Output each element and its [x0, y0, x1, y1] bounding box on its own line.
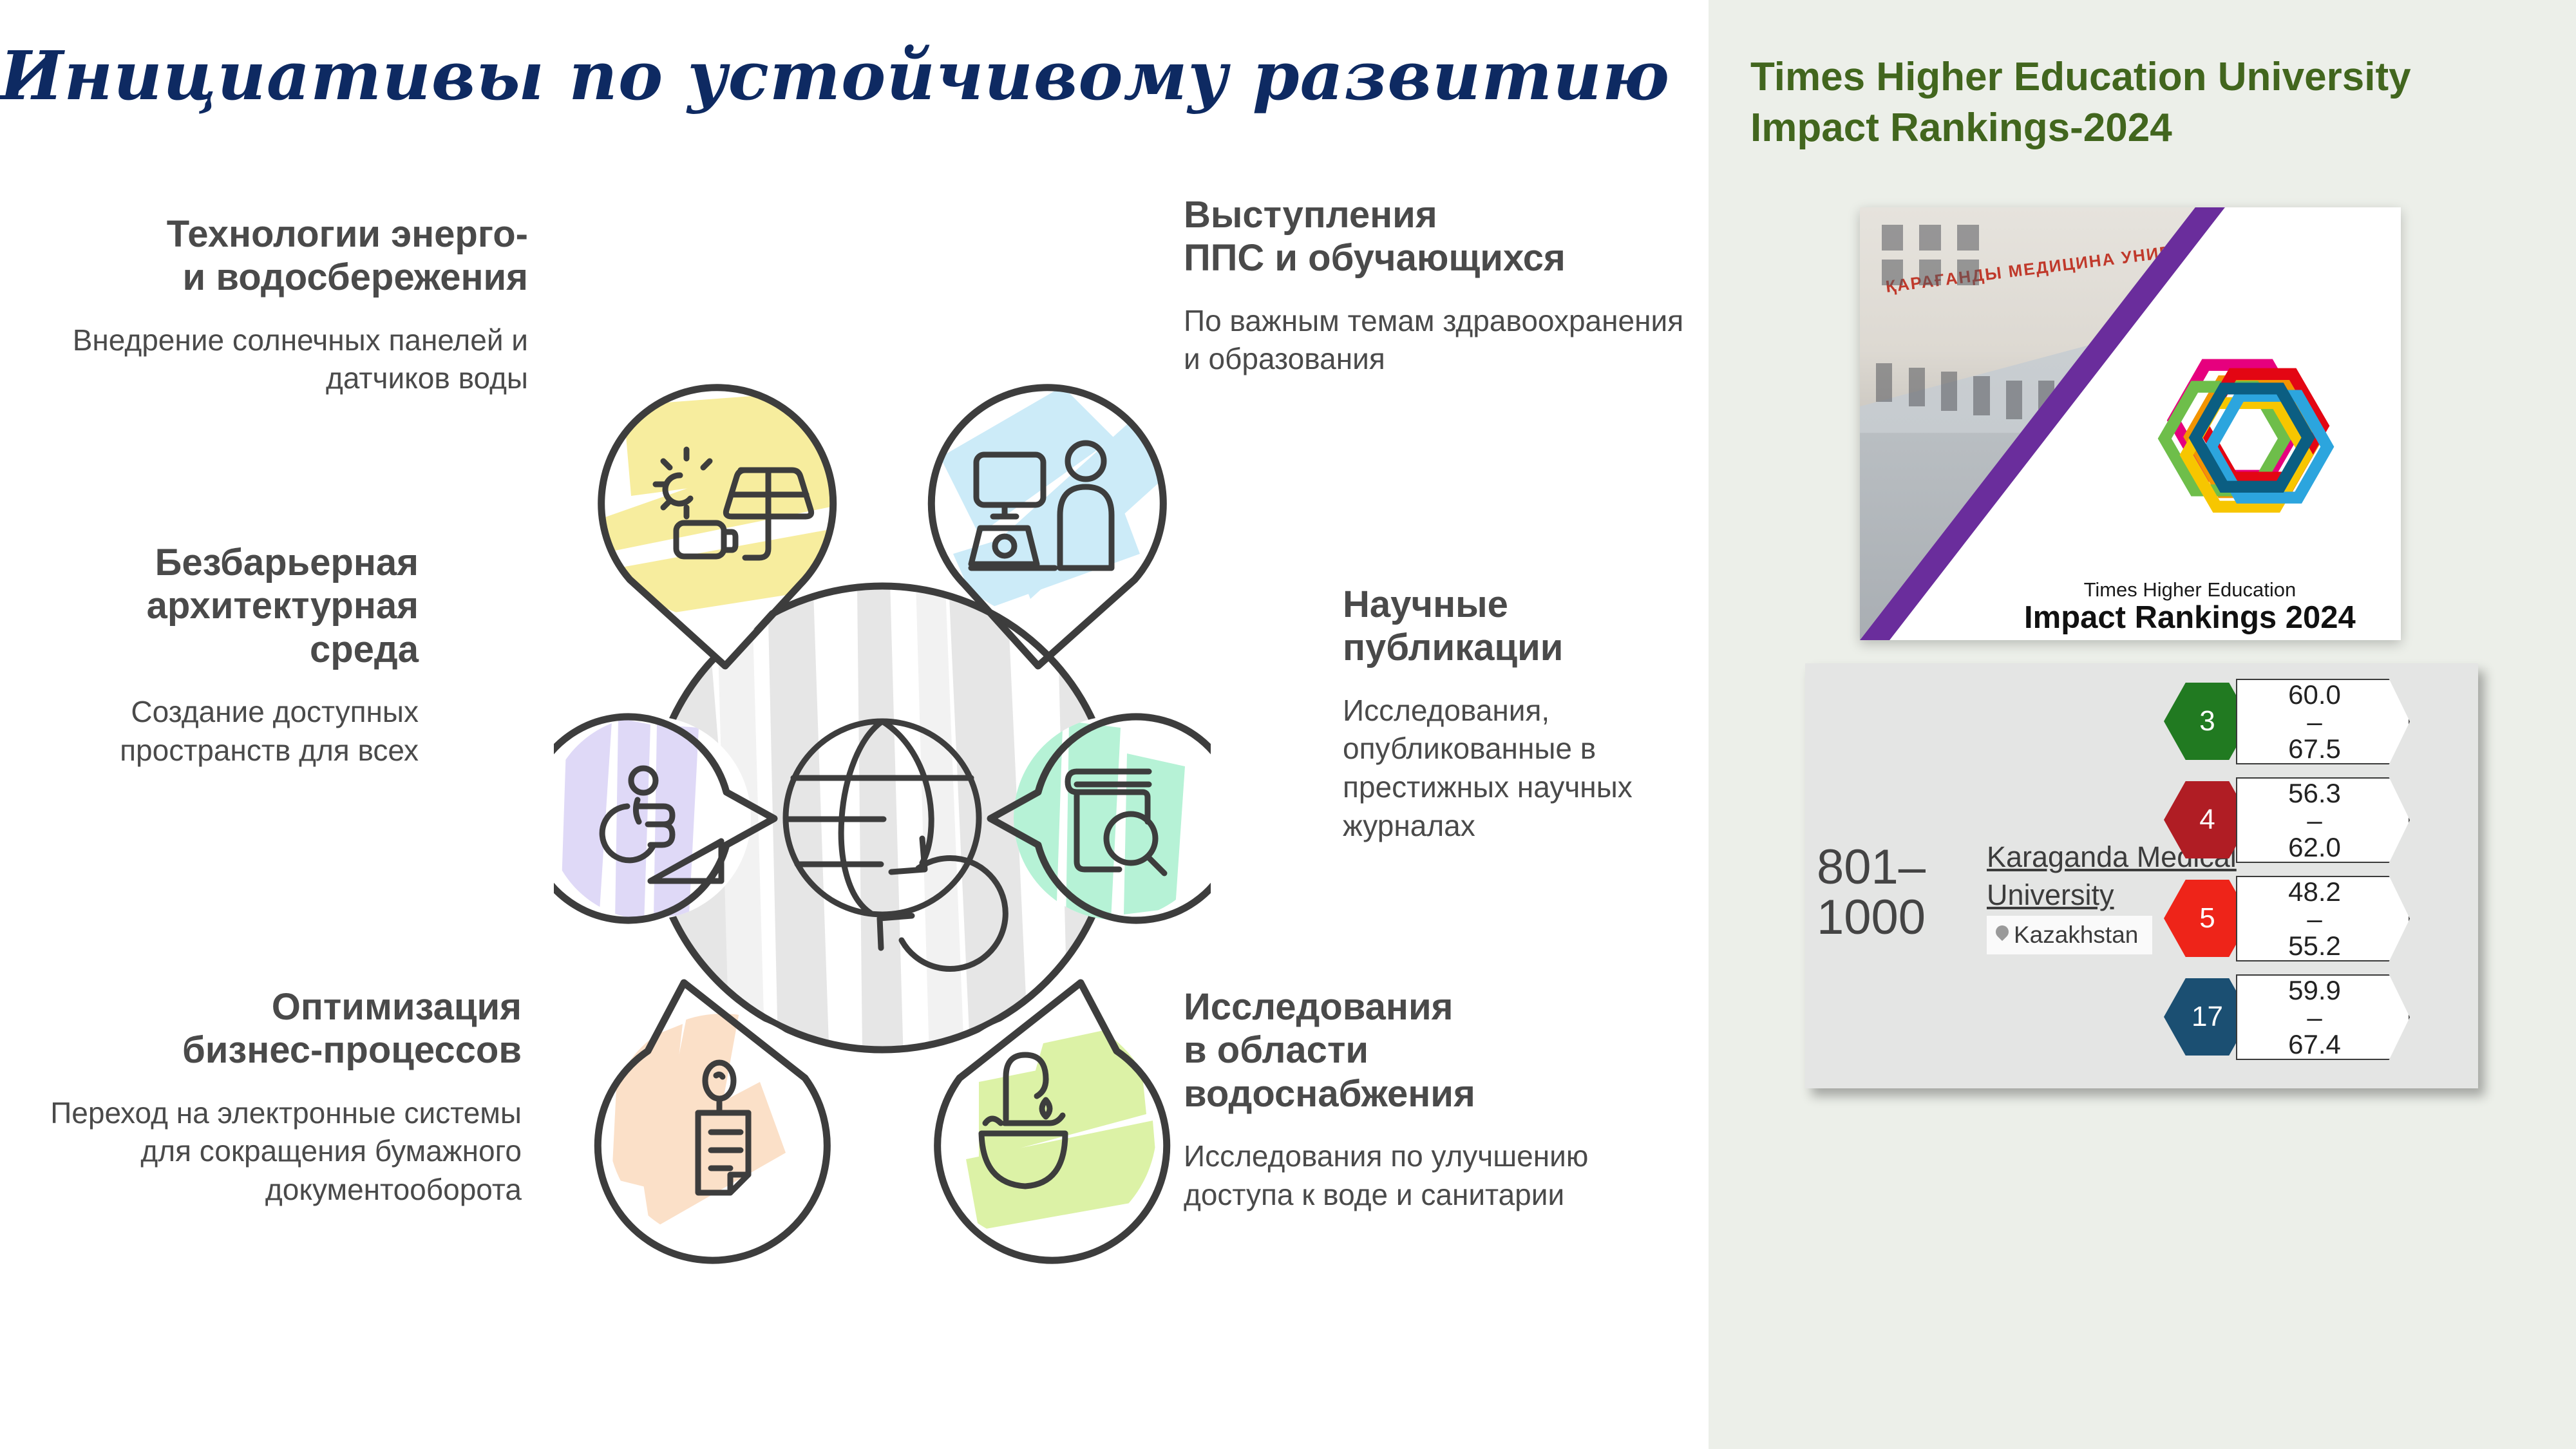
score-dash: – [2307, 1004, 2322, 1031]
heading-line: бизнес-процессов [0, 1028, 522, 1072]
sdg-badge-row: 5 48.2 – 55.2 [2164, 876, 2467, 961]
heading-line: Безбарьерная [0, 541, 419, 584]
heading-line: Научные [1343, 583, 1703, 626]
score-high: 60.0 [2288, 681, 2341, 708]
right-panel: Times Higher Education University Impact… [1709, 0, 2576, 1449]
the-impact-hexagon-logo [2136, 341, 2352, 523]
sdg-badge-row: 3 60.0 – 67.5 [2164, 679, 2467, 764]
heading-line: Выступления [1184, 193, 1699, 236]
topic-heading-publications: Научные публикации [1343, 583, 1703, 670]
topic-block-energy: Технологии энерго- и водосбережения Внед… [0, 213, 528, 398]
country-label: Kazakhstan [2014, 922, 2138, 949]
topic-body-speeches: По важным темам здравоохранения и образо… [1184, 302, 1699, 379]
slide-canvas: Инициативы по устойчивому развитию Техно… [0, 0, 1709, 1449]
topic-body-process: Переход на электронные системы для сокра… [0, 1094, 522, 1209]
topic-body-water: Исследования по улучшению доступа к воде… [1184, 1137, 1699, 1215]
score-high: 56.3 [2288, 780, 2341, 807]
heading-line: Исследования [1184, 985, 1699, 1028]
topic-heading-energy: Технологии энерго- и водосбережения [0, 213, 528, 299]
heading-line: среда [0, 628, 419, 671]
topic-block-water: Исследования в области водоснабжения Исс… [1184, 985, 1699, 1214]
heading-line: Оптимизация [0, 985, 522, 1028]
rank-position: 801– 1000 [1817, 842, 1978, 943]
impact-rankings-photo-card: ҚАРАҒАНДЫ МЕДИЦИНА УНИВЕРСИТЕТІ [1860, 207, 2401, 640]
topic-heading-water: Исследования в области водоснабжения [1184, 985, 1699, 1115]
score-low: 62.0 [2288, 834, 2341, 861]
panel-title: Times Higher Education University Impact… [1750, 52, 2536, 154]
topic-body-accessibility: Создание доступных пространств для всех [0, 693, 419, 770]
page-title: Инициативы по устойчивому развитию [0, 36, 1546, 115]
heading-line: водоснабжения [1184, 1072, 1699, 1115]
sdg-score-range: 59.9 – 67.4 [2236, 974, 2410, 1060]
sdg-badge-row: 17 59.9 – 67.4 [2164, 974, 2467, 1060]
topic-heading-accessibility: Безбарьерная архитектурная среда [0, 541, 419, 671]
topic-block-accessibility: Безбарьерная архитектурная среда Создани… [0, 541, 419, 770]
the-caption-large: Impact Rankings 2024 [1860, 600, 2401, 636]
sdg-score-range: 60.0 – 67.5 [2236, 679, 2410, 764]
sdg-badge-row: 4 56.3 – 62.0 [2164, 777, 2467, 863]
the-caption-small: Times Higher Education [1860, 578, 2401, 601]
score-low: 67.4 [2288, 1031, 2341, 1058]
score-dash: – [2307, 708, 2322, 735]
topic-block-publications: Научные публикации Исследования, опублик… [1343, 583, 1703, 846]
score-high: 59.9 [2288, 977, 2341, 1004]
topic-body-energy: Внедрение солнечных панелей и датчиков в… [0, 321, 528, 399]
score-dash: – [2307, 807, 2322, 834]
sustainability-wheel-diagram [554, 341, 1211, 1294]
topic-block-speeches: Выступления ППС и обучающихся По важным … [1184, 193, 1699, 379]
topic-block-process: Оптимизация бизнес-процессов Переход на … [0, 985, 522, 1209]
location-pin-icon [1996, 925, 2009, 945]
sdg-score-range: 56.3 – 62.0 [2236, 777, 2410, 863]
score-low: 67.5 [2288, 735, 2341, 762]
rank-line: 1000 [1817, 893, 1978, 943]
ranking-result-card: 801– 1000 Karaganda Medical University K… [1805, 663, 2478, 1088]
rank-line: 801– [1817, 842, 1978, 893]
heading-line: архитектурная [0, 584, 419, 627]
heading-line: публикации [1343, 626, 1703, 669]
score-high: 48.2 [2288, 878, 2341, 905]
score-dash: – [2307, 905, 2322, 933]
heading-line: Технологии энерго- [0, 213, 528, 256]
topic-body-publications: Исследования, опубликованные в престижны… [1343, 692, 1703, 846]
topic-heading-process: Оптимизация бизнес-процессов [0, 985, 522, 1072]
country-badge: Kazakhstan [1987, 916, 2152, 954]
topic-heading-speeches: Выступления ППС и обучающихся [1184, 193, 1699, 280]
heading-line: в области [1184, 1028, 1699, 1072]
score-low: 55.2 [2288, 933, 2341, 960]
sdg-badge-list: 3 60.0 – 67.5 4 56.3 – 62.0 5 48.2 [2164, 679, 2467, 1073]
heading-line: ППС и обучающихся [1184, 236, 1699, 279]
sdg-score-range: 48.2 – 55.2 [2236, 876, 2410, 961]
heading-line: и водосбережения [0, 256, 528, 299]
